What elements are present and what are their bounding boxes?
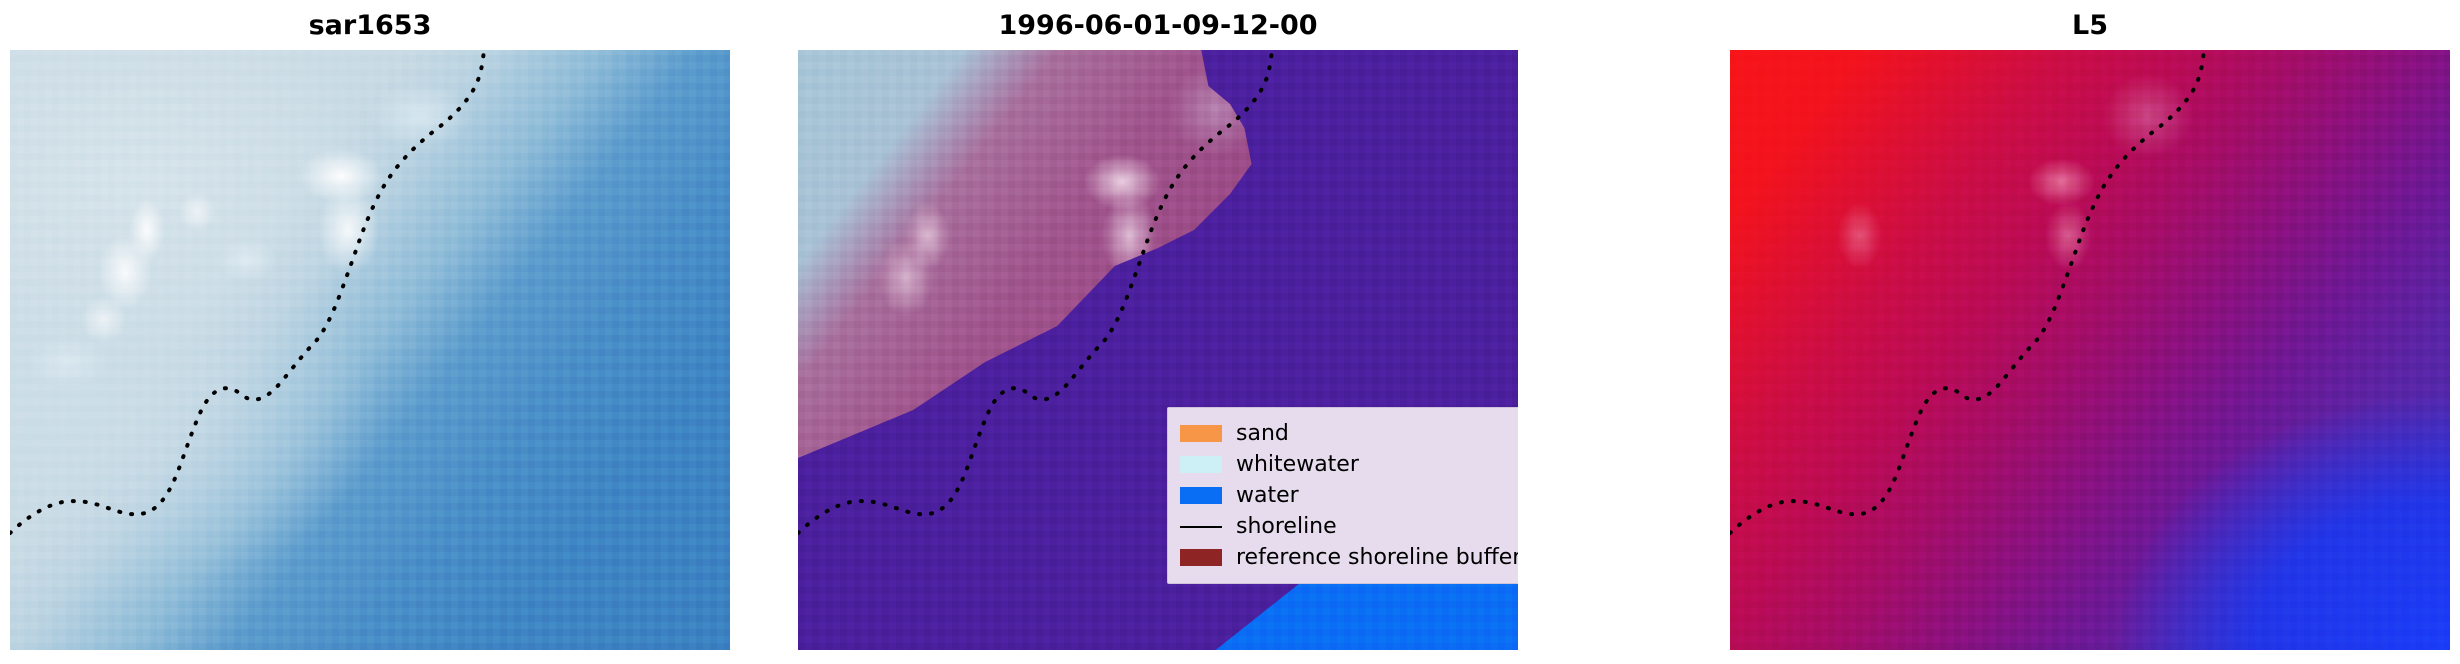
sar-shoreline-overlay xyxy=(10,50,730,650)
legend-item-whitewater: whitewater xyxy=(1180,449,1510,480)
shoreline-path xyxy=(1730,50,2204,533)
water-swatch-icon xyxy=(1180,487,1222,504)
panel-sar-title: sar1653 xyxy=(10,10,730,41)
legend-label-water: water xyxy=(1236,485,1299,507)
legend-item-reference-shoreline-buffer: reference shoreline buffer xyxy=(1180,542,1510,573)
panel-l5: L5 xyxy=(1730,0,2450,664)
panel-sar: sar1653 xyxy=(10,0,730,664)
panel-classified-image: sand whitewater water shoreline xyxy=(798,50,1518,650)
sand-swatch-icon xyxy=(1180,425,1222,442)
legend-label-reference-shoreline-buffer: reference shoreline buffer xyxy=(1236,547,1518,569)
panel-l5-title: L5 xyxy=(1730,10,2450,41)
shoreline-path xyxy=(10,50,484,533)
shoreline-line-icon xyxy=(1180,518,1222,535)
legend-item-sand: sand xyxy=(1180,418,1510,449)
legend-item-shoreline: shoreline xyxy=(1180,511,1510,542)
panel-l5-image xyxy=(1730,50,2450,650)
figure-canvas: sar1653 1996-06-01-09-12-00 xyxy=(0,0,2460,664)
legend-label-whitewater: whitewater xyxy=(1236,454,1359,476)
reference-buffer-swatch-icon xyxy=(1180,549,1222,566)
legend-label-sand: sand xyxy=(1236,423,1289,445)
panel-classified-title: 1996-06-01-09-12-00 xyxy=(798,10,1518,41)
legend-item-water: water xyxy=(1180,480,1510,511)
l5-shoreline-overlay xyxy=(1730,50,2450,650)
panel-sar-image xyxy=(10,50,730,650)
legend-label-shoreline: shoreline xyxy=(1236,516,1337,538)
panel-classified: 1996-06-01-09-12-00 sand whitewater xyxy=(798,0,1518,664)
legend: sand whitewater water shoreline xyxy=(1167,407,1518,584)
whitewater-swatch-icon xyxy=(1180,456,1222,473)
